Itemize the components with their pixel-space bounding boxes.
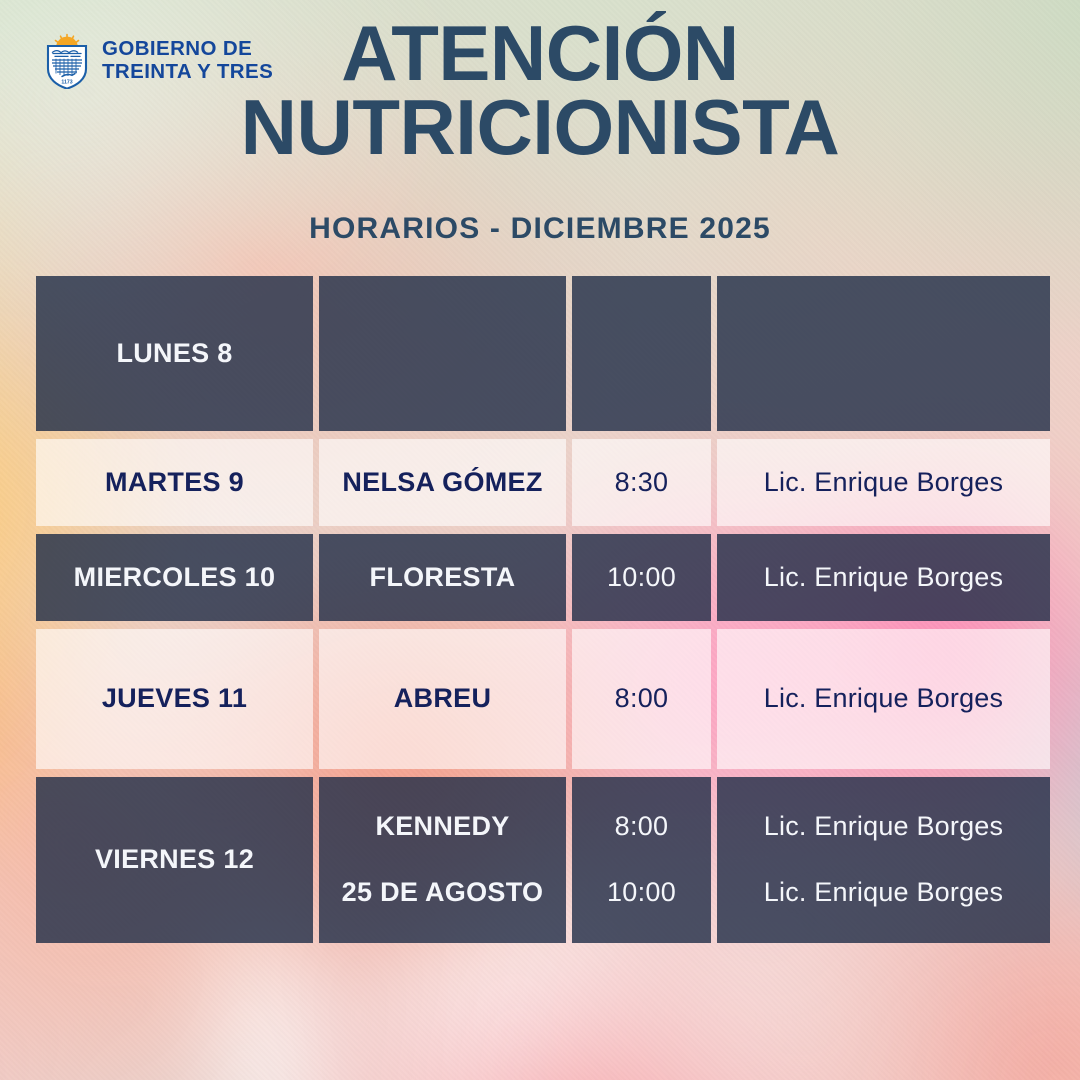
cell-day: MIERCOLES 10 xyxy=(36,534,313,621)
page-title: ATENCIÓN NUTRICIONISTA xyxy=(0,16,1080,164)
day-label: LUNES 8 xyxy=(108,338,240,370)
time-label: 8:30 xyxy=(607,467,677,499)
place-label: KENNEDY xyxy=(369,811,515,843)
header: 1173 GOBIERNO DE TREINTA Y TRES ATENCIÓN… xyxy=(0,0,1080,268)
table-row: MARTES 9 NELSA GÓMEZ 8:30 Lic. Enrique B… xyxy=(36,439,1044,526)
cell-place: FLORESTA xyxy=(319,534,566,621)
time-label: 10:00 xyxy=(601,877,682,909)
page-subtitle: HORARIOS - DICIEMBRE 2025 xyxy=(0,212,1080,246)
table-row: MIERCOLES 10 FLORESTA 10:00 Lic. Enrique… xyxy=(36,534,1044,621)
place-label: 25 DE AGOSTO xyxy=(336,877,550,909)
professional-label: Lic. Enrique Borges xyxy=(756,562,1011,594)
place-label: FLORESTA xyxy=(362,562,524,594)
day-label: MIERCOLES 10 xyxy=(66,562,284,594)
professional-label: Lic. Enrique Borges xyxy=(756,467,1011,499)
table-row: LUNES 8 xyxy=(36,276,1044,431)
day-label: JUEVES 11 xyxy=(94,683,255,715)
time-label: 8:00 xyxy=(609,811,675,843)
cell-professional xyxy=(717,276,1050,431)
place-label: ABREU xyxy=(386,683,500,715)
cell-time: 8:00 10:00 xyxy=(572,777,711,943)
cell-time: 8:00 xyxy=(572,629,711,769)
cell-place: KENNEDY 25 DE AGOSTO xyxy=(319,777,566,943)
cell-place: NELSA GÓMEZ xyxy=(319,439,566,526)
place-label: NELSA GÓMEZ xyxy=(334,467,550,499)
cell-professional: Lic. Enrique Borges xyxy=(717,439,1050,526)
time-label: 8:00 xyxy=(607,683,677,715)
cell-place: ABREU xyxy=(319,629,566,769)
cell-day: JUEVES 11 xyxy=(36,629,313,769)
cell-day: MARTES 9 xyxy=(36,439,313,526)
professional-label: Lic. Enrique Borges xyxy=(756,683,1011,715)
professional-label: Lic. Enrique Borges xyxy=(758,877,1009,909)
table-row: VIERNES 12 KENNEDY 25 DE AGOSTO 8:00 10:… xyxy=(36,777,1044,943)
cell-professional: Lic. Enrique Borges xyxy=(717,629,1050,769)
day-label: MARTES 9 xyxy=(97,467,252,499)
schedule-table: LUNES 8 MARTES 9 NELSA GÓMEZ 8:30 Lic. E… xyxy=(36,276,1044,943)
cell-time: 10:00 xyxy=(572,534,711,621)
cell-professional: Lic. Enrique Borges Lic. Enrique Borges xyxy=(717,777,1050,943)
cell-day: LUNES 8 xyxy=(36,276,313,431)
day-label: VIERNES 12 xyxy=(87,844,262,876)
cell-professional: Lic. Enrique Borges xyxy=(717,534,1050,621)
time-label: 10:00 xyxy=(599,562,684,594)
cell-day: VIERNES 12 xyxy=(36,777,313,943)
professional-label: Lic. Enrique Borges xyxy=(758,811,1009,843)
cell-place xyxy=(319,276,566,431)
cell-time: 8:30 xyxy=(572,439,711,526)
cell-time xyxy=(572,276,711,431)
table-row: JUEVES 11 ABREU 8:00 Lic. Enrique Borges xyxy=(36,629,1044,769)
